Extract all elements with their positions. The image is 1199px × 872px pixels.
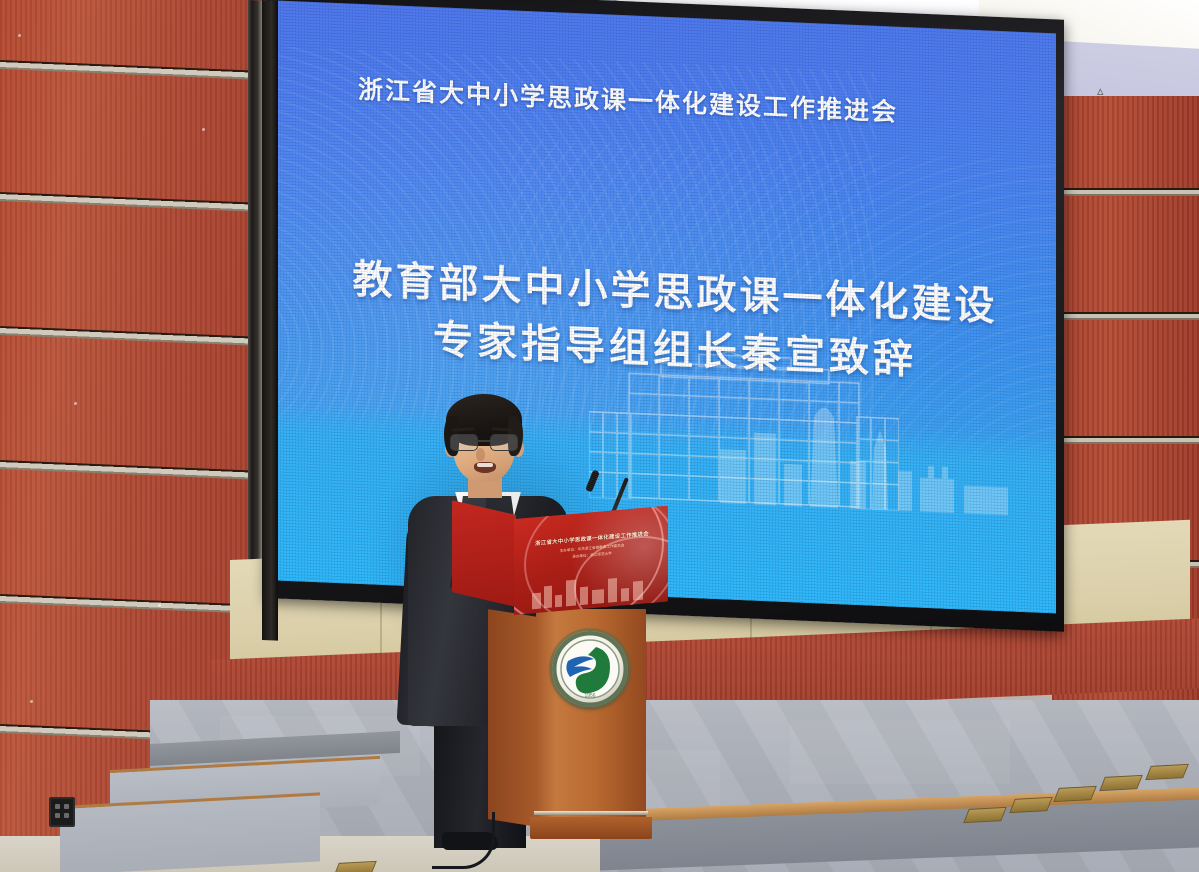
photograph-scene: ▵ [0,0,1199,872]
svg-text:1956: 1956 [584,693,595,699]
floor-outlet-plate[interactable] [1053,786,1097,802]
lectern-sign-side [452,500,516,607]
speaker-mouth [474,462,496,473]
floor-outlet-plate[interactable] [963,807,1007,823]
glasses-lens-right [490,434,518,451]
lectern-trim [534,811,648,815]
wall-trim-strip [0,460,262,480]
wall-trim-strip [0,192,262,212]
lectern-sign-panel: 浙江省大中小学思政课一体化建设工作推进会 主办单位：中共浙江省委教育工作委员会 … [514,506,668,615]
stage-step-lower [60,792,320,872]
wall-trim-strip [0,326,262,346]
floor-outlet-plate[interactable] [1009,797,1053,813]
wall-trim-strip [0,594,262,614]
glasses-lens-left [450,434,478,451]
floor-outlet-plate[interactable] [1099,775,1143,791]
speaker-nose [476,448,485,461]
lectern-base [530,817,652,839]
floor-outlet-plate[interactable] [1145,764,1189,780]
wall-power-outlet[interactable] [49,797,75,827]
glasses-bridge [476,440,490,442]
university-emblem-icon: 1956 [552,631,628,707]
lectern-body-side [488,609,538,827]
city-skyline-graphic [714,383,1014,516]
screen-left-shadow-gap [262,0,278,641]
glasses-icon [450,434,520,449]
floor-outlet-plate[interactable] [333,861,377,872]
lectern: 1956 浙江省大中小学思政课一体化建 [452,505,668,845]
wall-trim-strip [0,60,262,80]
